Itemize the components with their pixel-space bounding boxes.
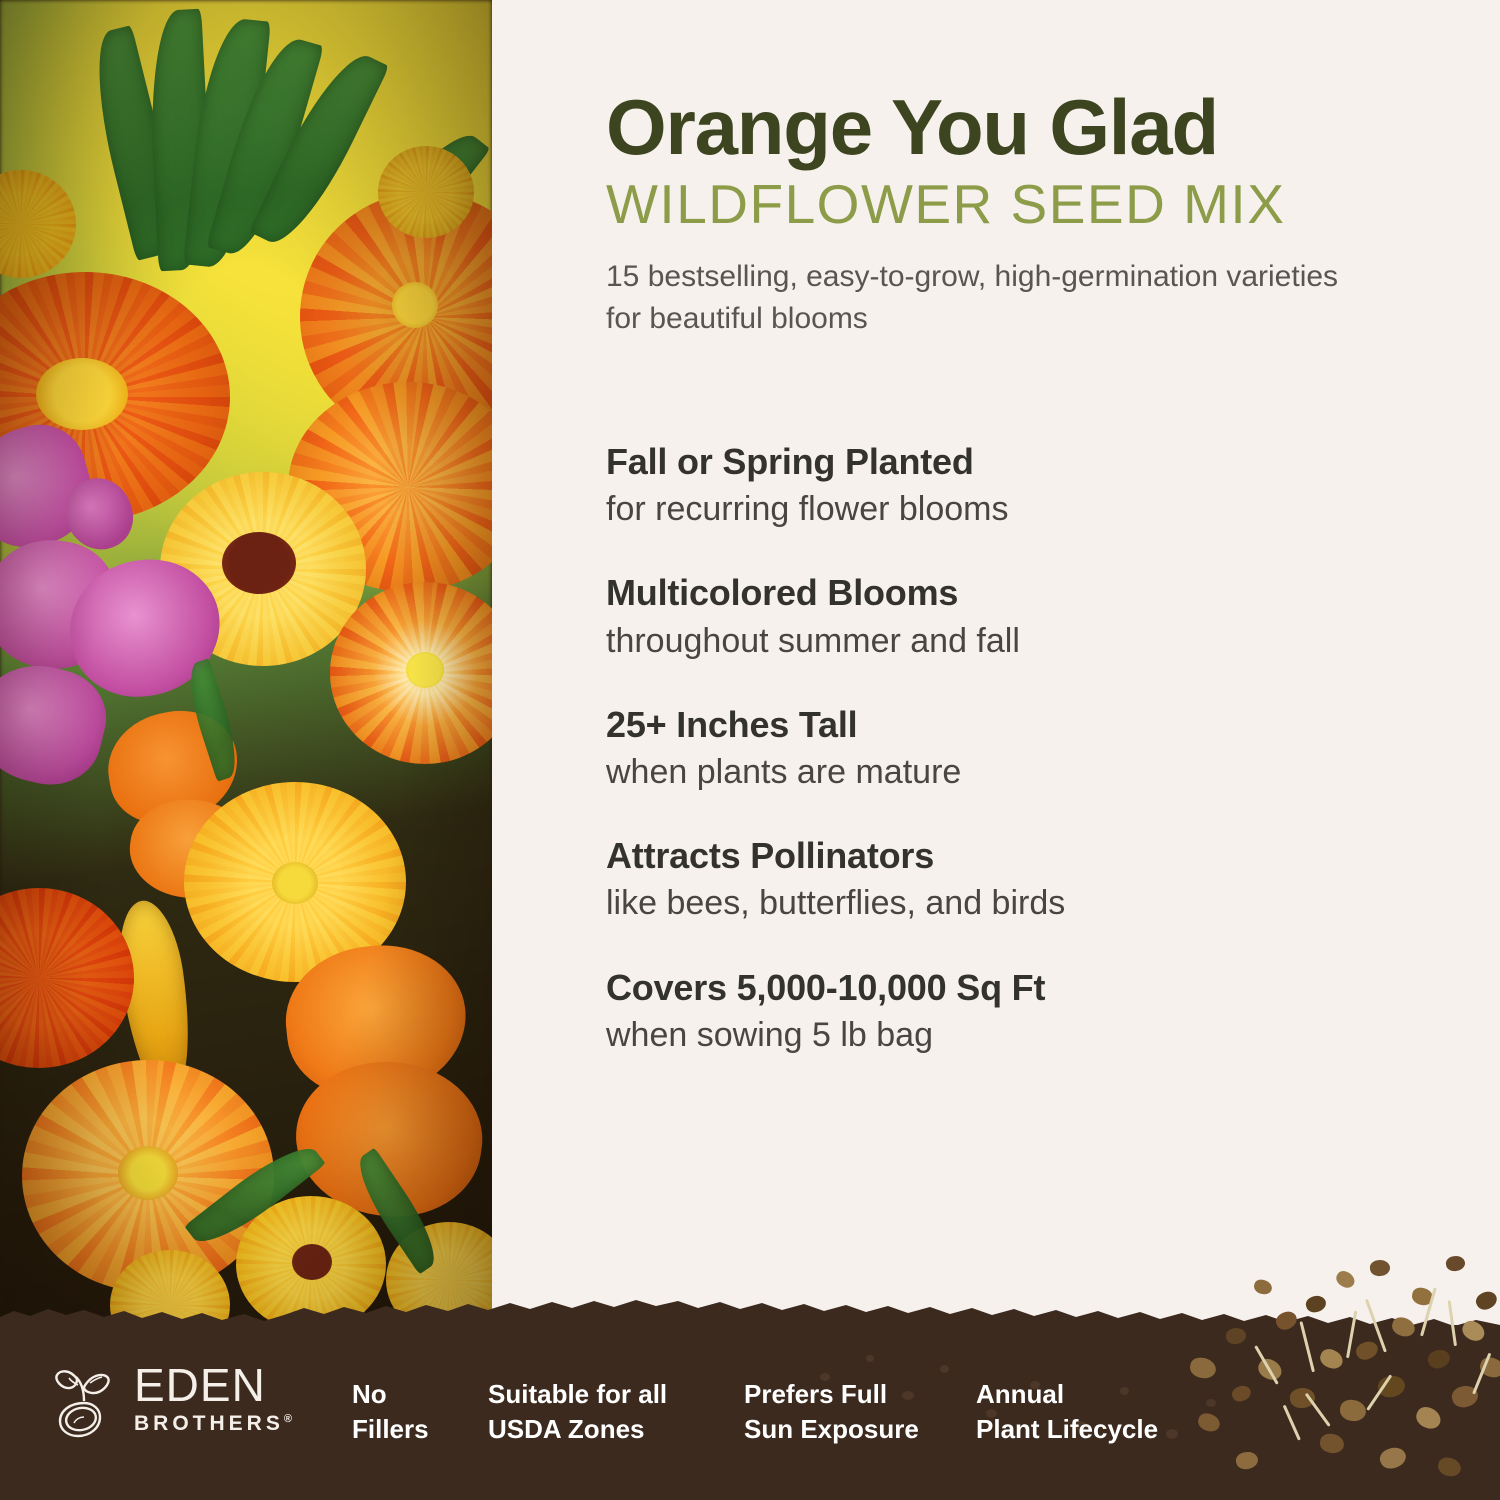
logo-brothers-label: BROTHERS <box>134 1412 284 1435</box>
feature-item: Multicolored Blooms throughout summer an… <box>606 571 1466 662</box>
feature-title: Attracts Pollinators <box>606 834 1466 877</box>
registered-trademark-icon: ® <box>284 1413 292 1425</box>
feature-list: Fall or Spring Planted for recurring flo… <box>606 440 1466 1057</box>
content-column: Orange You Glad WILDFLOWER SEED MIX 15 b… <box>502 0 1500 1352</box>
feature-detail: when plants are mature <box>606 750 1466 794</box>
feature-item: Attracts Pollinators like bees, butterfl… <box>606 834 1466 925</box>
feature-detail: when sowing 5 lb bag <box>606 1013 1466 1057</box>
badge-line-2: USDA Zones <box>488 1412 744 1447</box>
product-title: Orange You Glad <box>606 88 1466 166</box>
footer-badges: No Fillers Suitable for all USDA Zones P… <box>352 1377 1216 1446</box>
badge-sun-exposure: Prefers Full Sun Exposure <box>744 1377 976 1446</box>
feature-detail: throughout summer and fall <box>606 619 1466 663</box>
badge-usda-zones: Suitable for all USDA Zones <box>488 1377 744 1446</box>
feature-item: Fall or Spring Planted for recurring flo… <box>606 440 1466 531</box>
badge-line-2: Sun Exposure <box>744 1412 976 1447</box>
eden-brothers-logo[interactable]: EDEN BROTHERS® <box>48 1361 292 1439</box>
logo-brothers-text: BROTHERS® <box>134 1411 292 1436</box>
badge-line-1: Annual <box>976 1379 1064 1409</box>
logo-eden-text: EDEN <box>134 1364 292 1408</box>
feature-detail: for recurring flower blooms <box>606 487 1466 531</box>
title-block: Orange You Glad WILDFLOWER SEED MIX 15 b… <box>606 88 1466 341</box>
feature-title: Multicolored Blooms <box>606 571 1466 614</box>
badge-no-fillers: No Fillers <box>352 1377 488 1446</box>
feature-detail: like bees, butterflies, and birds <box>606 881 1466 925</box>
product-subtitle: WILDFLOWER SEED MIX <box>606 176 1466 234</box>
seedling-icon <box>48 1361 120 1439</box>
badge-line-1: Suitable for all <box>488 1379 667 1409</box>
feature-title: 25+ Inches Tall <box>606 703 1466 746</box>
badge-line-1: Prefers Full <box>744 1379 887 1409</box>
badge-line-2: Plant Lifecycle <box>976 1412 1216 1447</box>
product-tagline: 15 bestselling, easy-to-grow, high-germi… <box>606 256 1376 341</box>
product-photo <box>0 0 492 1352</box>
photo-canvas <box>0 0 492 1352</box>
feature-title: Covers 5,000-10,000 Sq Ft <box>606 966 1466 1009</box>
photo-divider <box>492 0 502 1352</box>
feature-item: Covers 5,000-10,000 Sq Ft when sowing 5 … <box>606 966 1466 1057</box>
badge-line-1: No <box>352 1379 387 1409</box>
footer: EDEN BROTHERS® No Fillers Suitable for a… <box>0 1325 1500 1500</box>
badge-line-2: Fillers <box>352 1412 488 1447</box>
feature-title: Fall or Spring Planted <box>606 440 1466 483</box>
infographic-canvas: Orange You Glad WILDFLOWER SEED MIX 15 b… <box>0 0 1500 1500</box>
photo-vignette <box>0 0 492 1352</box>
badge-plant-lifecycle: Annual Plant Lifecycle <box>976 1377 1216 1446</box>
feature-item: 25+ Inches Tall when plants are mature <box>606 703 1466 794</box>
logo-wordmark: EDEN BROTHERS® <box>134 1364 292 1436</box>
